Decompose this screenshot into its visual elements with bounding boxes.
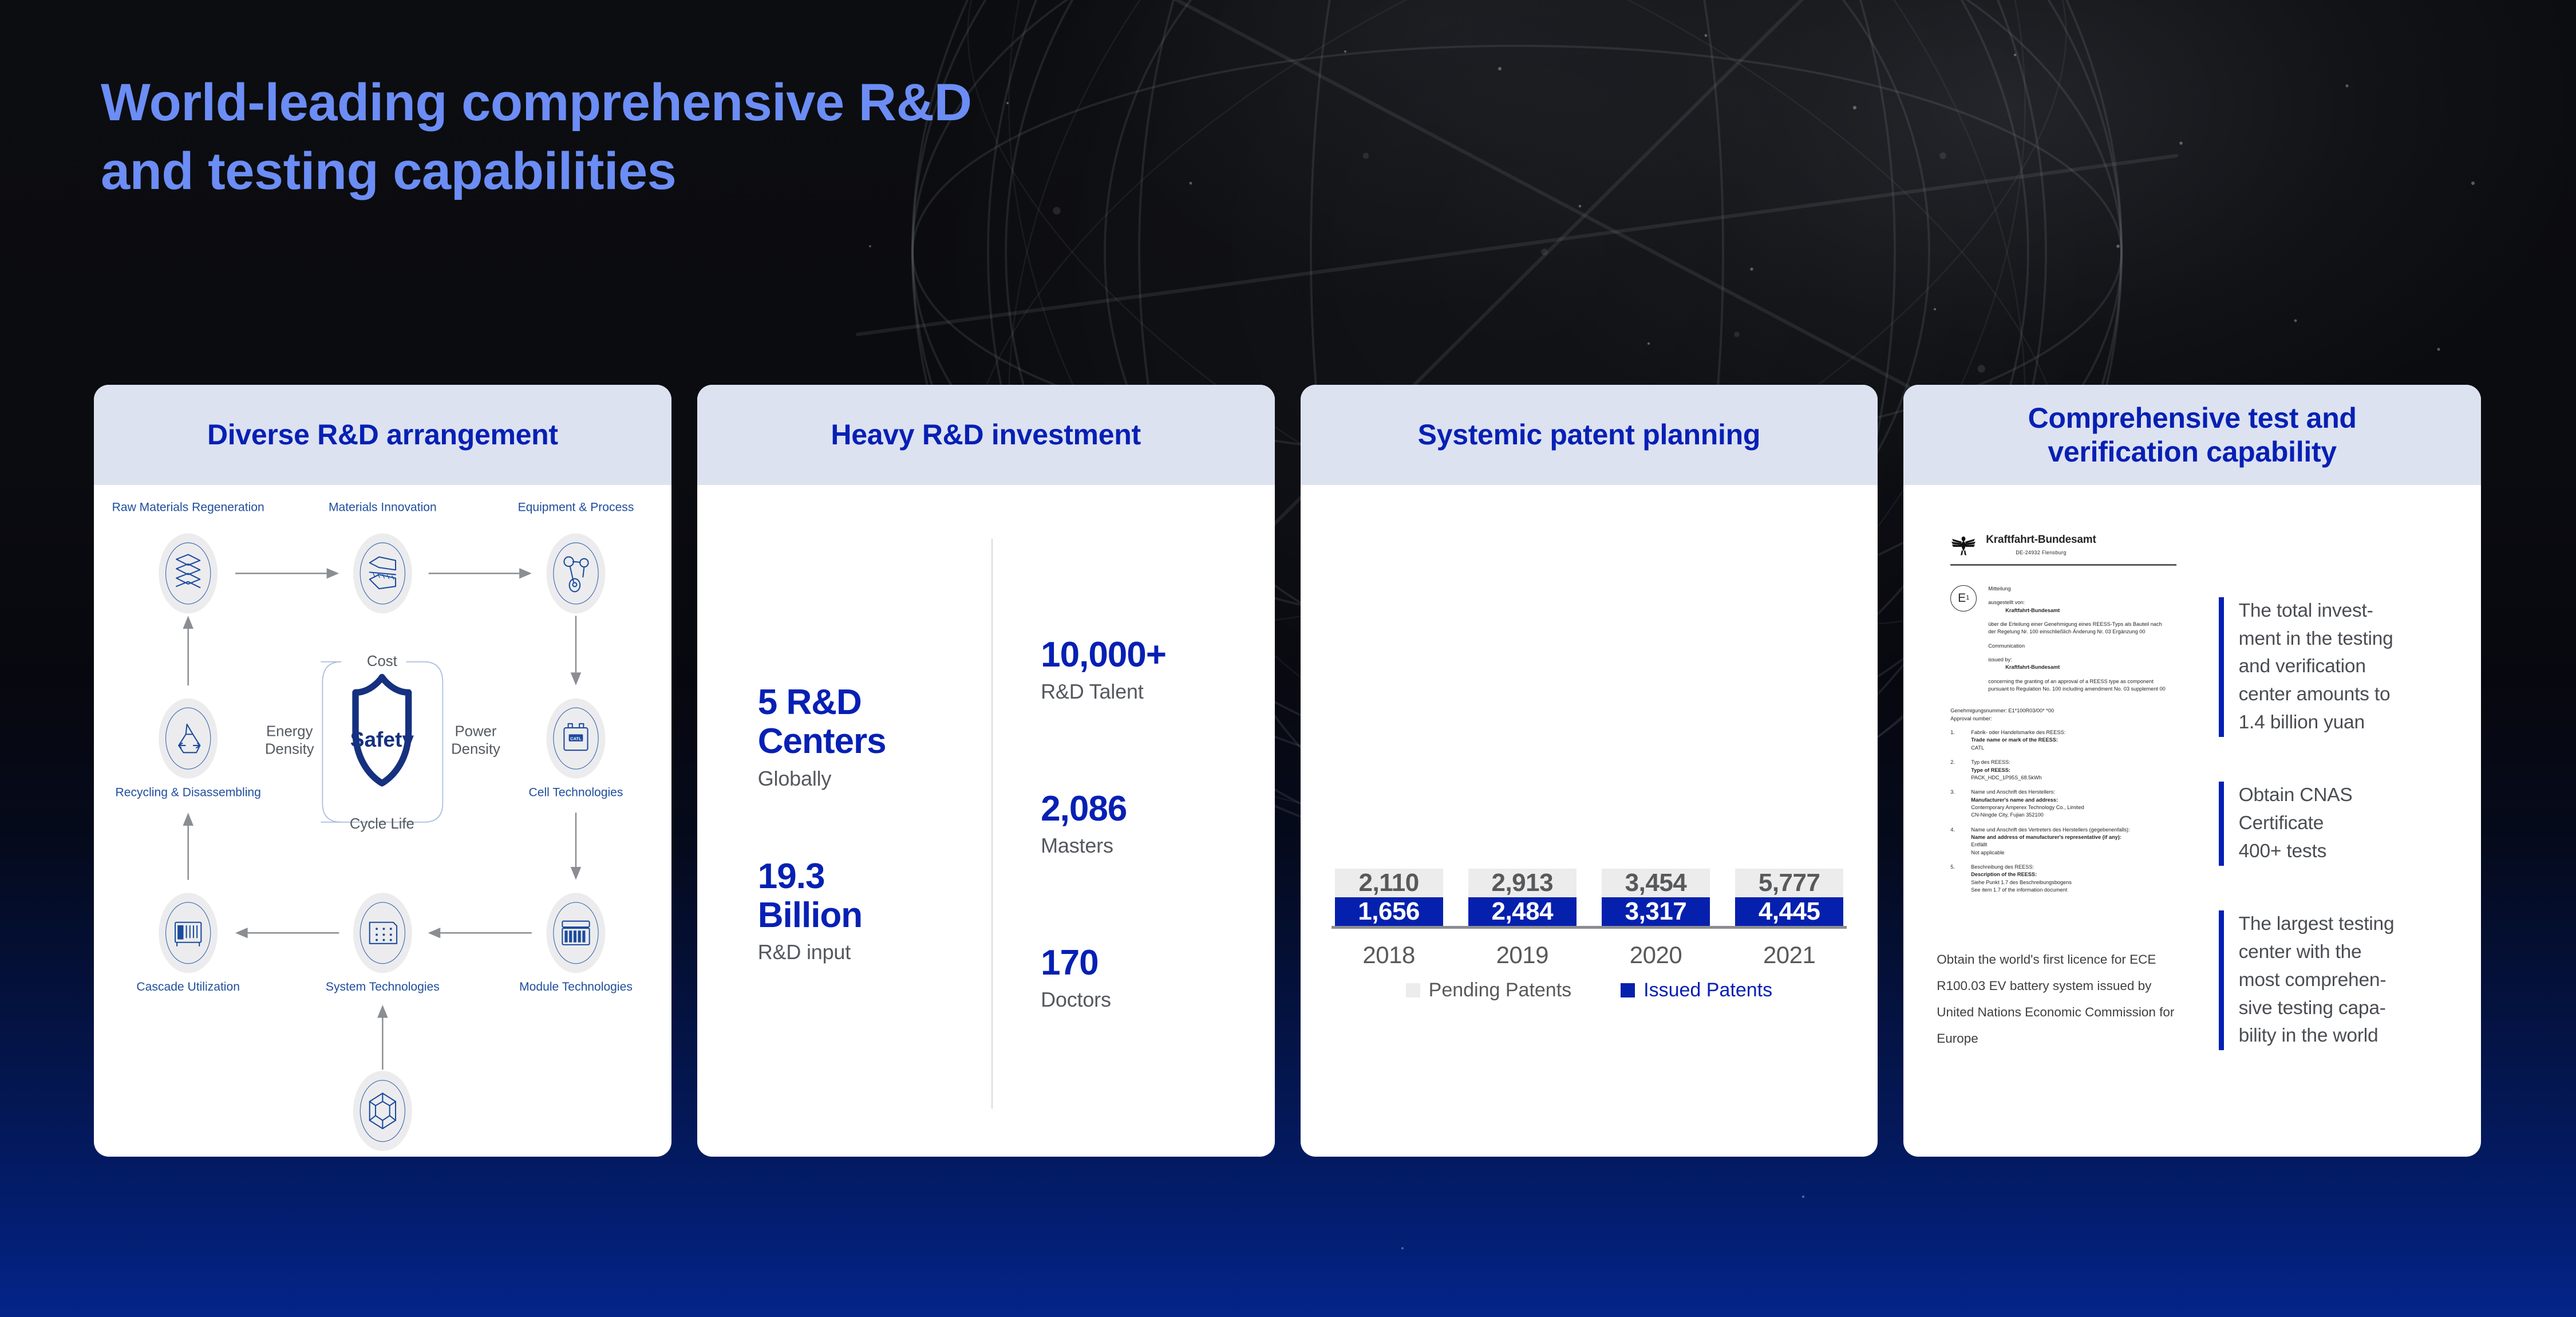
certificate-rule bbox=[1950, 564, 2176, 566]
cert-item-number: 1. bbox=[1950, 729, 1963, 752]
arrow-right-down bbox=[571, 616, 582, 685]
bullet-cnas-certificate: Obtain CNASCertificate400+ tests bbox=[2219, 782, 2455, 866]
ring-label-cost: Cost bbox=[367, 653, 397, 669]
certificate-address: DE-24932 Flensburg bbox=[1986, 549, 2096, 557]
stat-rd-talent-label: R&D Talent bbox=[1041, 680, 1274, 704]
bar-value-pending-2021: 5,777 bbox=[1759, 869, 1820, 897]
chart-plot-area: 2,1101,6562,9132,4843,4543,3175,7774,445 bbox=[1332, 525, 1847, 929]
node-recycling-disassembling bbox=[159, 699, 218, 779]
cert-item-4: 4.Name und Anschrift des Vertreters des … bbox=[1950, 826, 2176, 857]
e1-approval-mark-icon: E1 bbox=[1950, 585, 1977, 612]
stat-rd-centers: 5 R&DCenters Globally bbox=[758, 683, 991, 790]
cert-line-communication: Communication bbox=[1988, 642, 2166, 650]
node-label-cell-technologies: Cell Technologies bbox=[529, 786, 623, 799]
cert-item-de: Name und Anschrift des Vertreters des He… bbox=[1971, 826, 2129, 834]
bar-value-issued-2018: 1,656 bbox=[1358, 897, 1420, 926]
cert-item-value: CATL bbox=[1971, 744, 2065, 752]
patent-bar-chart: 2,1101,6562,9132,4843,4543,3175,7774,445… bbox=[1301, 485, 1878, 1157]
legend-label-pending: Pending Patents bbox=[1429, 979, 1572, 1001]
bullet-text-3: The largest testingcenter with themost c… bbox=[2239, 910, 2395, 1051]
legend-label-issued: Issued Patents bbox=[1643, 979, 1772, 1001]
certificate-emark-block: E1 Mitteilung ausgestellt von: Kraftfahr… bbox=[1950, 585, 2176, 699]
card-systemic-patent-planning: Systemic patent planning 2,1101,6562,913… bbox=[1301, 385, 1878, 1157]
card-title-4: Comprehensive test andverification capab… bbox=[2028, 401, 2357, 469]
cert-item-list: 1.Fabrik- oder Handelsmarke des REESS:Tr… bbox=[1950, 729, 2176, 894]
cert-approval-de: Genehmigungsnummer: E1*100R03/00* *00 bbox=[1950, 707, 2176, 715]
cert-line-issued: issued by: bbox=[1988, 656, 2166, 664]
cert-item-de: Name und Anschrift des Herstellers: bbox=[1971, 788, 2084, 796]
node-module-technologies bbox=[547, 893, 606, 973]
bullet-marker-icon bbox=[2219, 910, 2224, 1051]
cert-item-body: Beschreibung des REESS:Description of th… bbox=[1971, 863, 2072, 894]
bullet-text-1: The total invest-ment in the testingand … bbox=[2239, 597, 2393, 738]
page-title-line-1: World-leading comprehensive R&D bbox=[101, 69, 1360, 137]
card-body-4: Kraftfahrt-Bundesamt DE-24932 Flensburg … bbox=[1903, 485, 2481, 1157]
bar-segment-pending-2020: 3,454 bbox=[1602, 869, 1710, 897]
ring-label-power-density-1: Power bbox=[455, 723, 497, 739]
bar-segment-pending-2019: 2,913 bbox=[1468, 869, 1577, 897]
certificate-column: Kraftfahrt-Bundesamt DE-24932 Flensburg … bbox=[1926, 517, 2192, 1130]
stats-column-right: 10,000+ R&D Talent 2,086 Masters 170 Doc… bbox=[993, 531, 1274, 1117]
legend-swatch-pending-icon bbox=[1406, 983, 1420, 997]
bar-value-issued-2020: 3,317 bbox=[1625, 897, 1687, 926]
card-header-4: Comprehensive test andverification capab… bbox=[1903, 385, 2481, 485]
cert-item-number: 2. bbox=[1950, 759, 1963, 782]
stat-masters-value: 2,086 bbox=[1041, 790, 1274, 829]
stats-column-left: 5 R&DCenters Globally 19.3Billion R&D in… bbox=[697, 531, 991, 1117]
bar-value-issued-2021: 4,445 bbox=[1759, 897, 1820, 926]
bundesadler-eagle-icon bbox=[1950, 532, 1977, 557]
cert-en-2: pursuant to Regulation No. 100 including… bbox=[1988, 685, 2166, 693]
stat-doctors: 170 Doctors bbox=[1041, 944, 1274, 1012]
svg-text:CATL: CATL bbox=[570, 736, 582, 741]
x-tick-2019: 2019 bbox=[1468, 941, 1577, 969]
bar-column-2018: 2,1101,656 bbox=[1335, 869, 1443, 926]
shield-label: Safety bbox=[350, 727, 414, 751]
stat-rd-centers-value: 5 R&DCenters bbox=[758, 683, 991, 761]
stat-rd-centers-label: Globally bbox=[758, 767, 991, 791]
cert-item-2: 2.Typ des REESS:Type of REESS:PACK_HDC_1… bbox=[1950, 759, 2176, 782]
x-tick-2018: 2018 bbox=[1335, 941, 1443, 969]
card-comprehensive-test-verification: Comprehensive test andverification capab… bbox=[1903, 385, 2481, 1157]
bullet-total-investment: The total invest-ment in the testingand … bbox=[2219, 597, 2455, 738]
cert-item-de: Typ des REESS: bbox=[1971, 759, 2041, 766]
cert-item-body: Name und Anschrift des Herstellers:Manuf… bbox=[1971, 788, 2084, 819]
node-label-module-technologies: Module Technologies bbox=[519, 980, 633, 993]
bar-column-2019: 2,9132,484 bbox=[1468, 869, 1577, 926]
cert-item-en: Manufacturer's name and address: bbox=[1971, 796, 2084, 804]
x-tick-2020: 2020 bbox=[1602, 941, 1710, 969]
bar-segment-issued-2019: 2,484 bbox=[1468, 897, 1577, 926]
arrow-row1-b bbox=[429, 568, 532, 579]
ring-label-energy-density-2: Density bbox=[265, 741, 314, 757]
bullet-text-2: Obtain CNASCertificate400+ tests bbox=[2239, 782, 2353, 866]
cert-item-1: 1.Fabrik- oder Handelsmarke des REESS:Tr… bbox=[1950, 729, 2176, 752]
page-title: World-leading comprehensive R&D and test… bbox=[101, 69, 1360, 206]
safety-shield-icon: Safety bbox=[350, 677, 414, 783]
chart-x-axis: 2018201920202021 bbox=[1332, 929, 1847, 969]
certificate-intro: Mitteilung ausgestellt von: Kraftfahrt-B… bbox=[1988, 585, 2166, 699]
card-body-2: 5 R&DCenters Globally 19.3Billion R&D in… bbox=[697, 485, 1275, 1157]
node-label-system-technologies: System Technologies bbox=[326, 980, 440, 993]
bar-column-2021: 5,7774,445 bbox=[1735, 869, 1843, 926]
ring-label-energy-density-1: Energy bbox=[266, 723, 313, 739]
cert-org-1: Kraftfahrt-Bundesamt bbox=[1988, 607, 2166, 614]
cert-item-number: 3. bbox=[1950, 788, 1963, 819]
stat-doctors-value: 170 bbox=[1041, 944, 1274, 983]
stat-rd-talent: 10,000+ R&D Talent bbox=[1041, 636, 1274, 704]
capability-bullets: The total invest-ment in the testingand … bbox=[2192, 517, 2458, 1130]
bar-segment-pending-2021: 5,777 bbox=[1735, 869, 1843, 897]
cert-item-body: Typ des REESS:Type of REESS:PACK_HDC_1P9… bbox=[1971, 759, 2041, 782]
node-materials-innovation bbox=[353, 533, 412, 613]
node-bms-technologies bbox=[353, 1071, 412, 1151]
cert-de-2: der Regelung Nr. 100 einschließlich Ände… bbox=[1988, 628, 2166, 636]
cert-approval-block: Genehmigungsnummer: E1*100R03/00* *00 Ap… bbox=[1950, 707, 2176, 723]
cert-item-value: Siehe Punkt 1.7 des Beschreibungsbogens … bbox=[1971, 879, 2072, 894]
stats-grid: 5 R&DCenters Globally 19.3Billion R&D in… bbox=[697, 485, 1275, 1157]
cert-item-value: PACK_HDC_1P95S_68.5kWh bbox=[1971, 774, 2041, 782]
card-heavy-rd-investment: Heavy R&D investment 5 R&DCenters Global… bbox=[697, 385, 1275, 1157]
bar-column-2020: 3,4543,317 bbox=[1602, 869, 1710, 926]
bar-value-pending-2020: 3,454 bbox=[1625, 869, 1687, 897]
x-tick-2021: 2021 bbox=[1735, 941, 1843, 969]
card-diverse-rd-arrangement: Diverse R&D arrangement Raw Materials Re… bbox=[94, 385, 671, 1157]
legend-item-pending[interactable]: Pending Patents bbox=[1406, 979, 1572, 1001]
certificate-org: Kraftfahrt-Bundesamt bbox=[1986, 532, 2096, 548]
cert-item-number: 4. bbox=[1950, 826, 1963, 857]
stat-rd-input-label: R&D input bbox=[758, 940, 991, 964]
card-body-3: 2,1101,6562,9132,4843,4543,3175,7774,445… bbox=[1301, 485, 1878, 1157]
cert-item-body: Name und Anschrift des Vertreters des He… bbox=[1971, 826, 2129, 857]
bullet-largest-testing-center: The largest testingcenter with themost c… bbox=[2219, 910, 2455, 1051]
node-raw-materials bbox=[159, 533, 218, 613]
bullet-marker-icon bbox=[2219, 597, 2224, 738]
arrow-right-down-2 bbox=[571, 813, 582, 880]
node-equipment-process bbox=[547, 533, 606, 613]
cert-approval-en: Approval number: bbox=[1950, 715, 2176, 723]
node-label-raw-materials: Raw Materials Regeneration bbox=[112, 500, 264, 514]
chart-legend: Pending PatentsIssued Patents bbox=[1332, 969, 1847, 1001]
cert-org-2: Kraftfahrt-Bundesamt bbox=[1988, 664, 2166, 671]
bar-value-issued-2019: 2,484 bbox=[1491, 897, 1553, 926]
ring-label-cycle-life: Cycle Life bbox=[350, 816, 414, 832]
node-cell-technologies: CATL bbox=[547, 699, 606, 779]
cert-item-de: Beschreibung des REESS: bbox=[1971, 863, 2072, 871]
rd-cycle-diagram: Raw Materials Regeneration Materials Inn… bbox=[94, 485, 671, 1157]
card-body-1: Raw Materials Regeneration Materials Inn… bbox=[94, 485, 671, 1157]
stat-rd-input-value: 19.3Billion bbox=[758, 857, 991, 935]
cert-item-en: Type of REESS: bbox=[1971, 767, 2041, 774]
bullet-marker-icon bbox=[2219, 782, 2224, 866]
certificate-caption: Obtain the world's first licence for ECE… bbox=[1933, 947, 2192, 1052]
stat-masters: 2,086 Masters bbox=[1041, 790, 1274, 858]
cert-de-1: über die Erteilung einer Genehmigung ein… bbox=[1988, 621, 2166, 628]
bar-segment-issued-2021: 4,445 bbox=[1735, 897, 1843, 926]
verification-layout: Kraftfahrt-Bundesamt DE-24932 Flensburg … bbox=[1903, 485, 2481, 1157]
node-label-materials-innovation: Materials Innovation bbox=[329, 500, 437, 514]
bar-value-pending-2019: 2,913 bbox=[1491, 869, 1553, 897]
card-title-3: Systemic patent planning bbox=[1418, 418, 1760, 452]
node-cascade-utilization bbox=[159, 893, 218, 973]
node-label-cascade-utilization: Cascade Utilization bbox=[136, 980, 240, 993]
arrow-left-up-2 bbox=[183, 813, 193, 880]
cert-item-value: Entfällt Not applicable bbox=[1971, 841, 2129, 857]
cert-item-number: 5. bbox=[1950, 863, 1963, 894]
arrow-row1-a bbox=[235, 568, 339, 579]
kba-certificate-image: Kraftfahrt-Bundesamt DE-24932 Flensburg … bbox=[1933, 517, 2192, 924]
card-row: Diverse R&D arrangement Raw Materials Re… bbox=[94, 385, 2481, 1157]
ring-label-power-density-2: Density bbox=[451, 741, 500, 757]
arrow-row3-a bbox=[428, 928, 532, 939]
card-header-1: Diverse R&D arrangement bbox=[94, 385, 671, 485]
certificate-header: Kraftfahrt-Bundesamt DE-24932 Flensburg bbox=[1950, 532, 2176, 557]
stat-doctors-label: Doctors bbox=[1041, 988, 1274, 1012]
cert-item-de: Fabrik- oder Handelsmarke des REESS: bbox=[1971, 729, 2065, 736]
arrow-left-up bbox=[183, 616, 193, 685]
cert-item-body: Fabrik- oder Handelsmarke des REESS:Trad… bbox=[1971, 729, 2065, 752]
card-title-1: Diverse R&D arrangement bbox=[207, 418, 558, 452]
cert-item-5: 5.Beschreibung des REESS:Description of … bbox=[1950, 863, 2176, 894]
node-label-recycling: Recycling & Disassembling bbox=[115, 786, 260, 799]
cert-line-mitteilung: Mitteilung bbox=[1988, 585, 2166, 593]
node-label-equipment-process: Equipment & Process bbox=[518, 500, 634, 514]
node-system-technologies bbox=[353, 893, 412, 973]
bar-segment-pending-2018: 2,110 bbox=[1335, 869, 1443, 897]
card-title-2: Heavy R&D investment bbox=[831, 418, 1140, 452]
bar-segment-issued-2020: 3,317 bbox=[1602, 897, 1710, 926]
cert-item-value: Contemporary Amperex Technology Co., Lim… bbox=[1971, 804, 2084, 819]
cert-item-en: Description of the REESS: bbox=[1971, 871, 2072, 878]
legend-swatch-issued-icon bbox=[1621, 983, 1635, 997]
stat-rd-input: 19.3Billion R&D input bbox=[758, 857, 991, 964]
page-title-line-2: and testing capabilities bbox=[101, 137, 1360, 206]
stat-masters-label: Masters bbox=[1041, 834, 1274, 858]
stat-rd-talent-value: 10,000+ bbox=[1041, 636, 1274, 675]
cert-item-en: Trade name or mark of the REESS: bbox=[1971, 736, 2065, 744]
cert-line-ausgestellt: ausgestellt von: bbox=[1988, 599, 2166, 606]
card-header-2: Heavy R&D investment bbox=[697, 385, 1275, 485]
bar-segment-issued-2018: 1,656 bbox=[1335, 897, 1443, 926]
bar-value-pending-2018: 2,110 bbox=[1359, 869, 1419, 897]
card-header-3: Systemic patent planning bbox=[1301, 385, 1878, 485]
legend-item-issued[interactable]: Issued Patents bbox=[1621, 979, 1772, 1001]
arrow-row3-b bbox=[235, 928, 339, 939]
cert-item-3: 3.Name und Anschrift des Herstellers:Man… bbox=[1950, 788, 2176, 819]
cert-en-1: concerning the granting of an approval o… bbox=[1988, 678, 2166, 685]
arrow-bms-up bbox=[377, 1005, 388, 1070]
cert-item-en: Name and address of manufacturer's repre… bbox=[1971, 834, 2129, 841]
